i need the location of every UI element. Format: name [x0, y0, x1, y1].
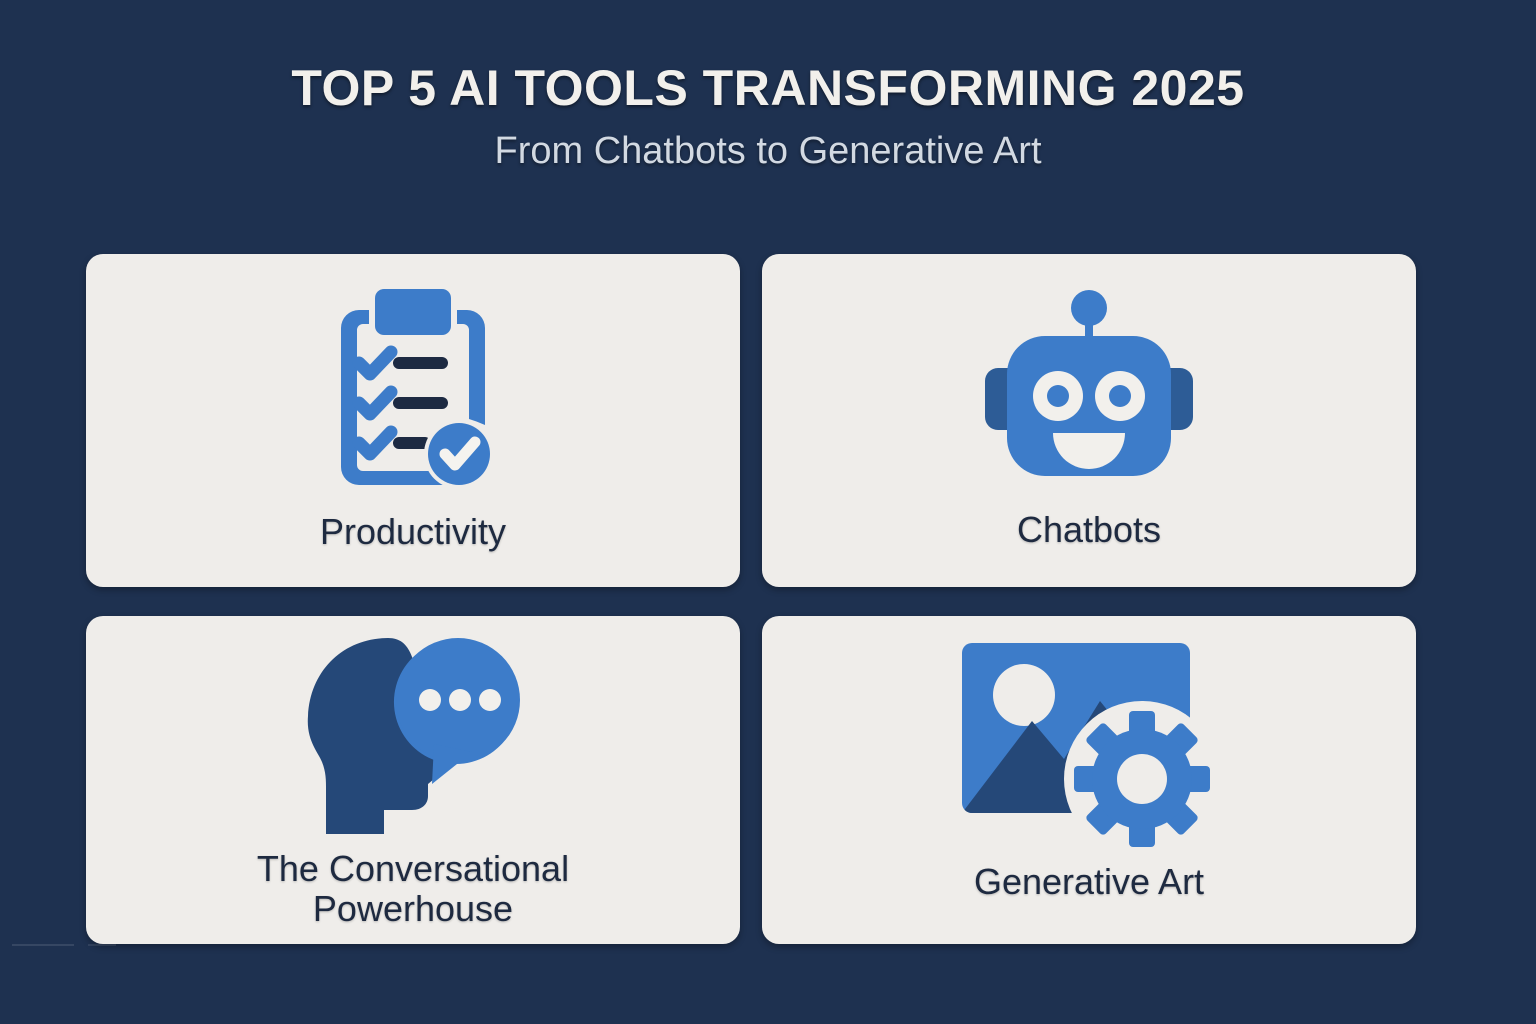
robot-head-icon — [983, 278, 1195, 498]
check-mark-2 — [359, 392, 391, 414]
card-label-generative-art: Generative Art — [960, 862, 1218, 902]
page-subtitle: From Chatbots to Generative Art — [0, 131, 1536, 173]
right-pupil — [1109, 385, 1131, 407]
header: TOP 5 AI TOOLS TRANSFORMING 2025 From Ch… — [0, 0, 1536, 172]
head-speech-bubble-icon — [296, 630, 530, 845]
page-title: TOP 5 AI TOOLS TRANSFORMING 2025 — [0, 62, 1536, 115]
card-productivity[interactable]: Productivity — [86, 254, 740, 587]
card-label-productivity: Productivity — [306, 512, 520, 552]
dot-2 — [449, 689, 471, 711]
dot-3 — [479, 689, 501, 711]
dot-1 — [419, 689, 441, 711]
edge-artifact — [12, 944, 74, 946]
list-line-1 — [393, 357, 448, 369]
sun-circle — [993, 664, 1055, 726]
card-grid: Productivity Chatbots — [86, 254, 1416, 944]
list-line-2 — [393, 397, 448, 409]
card-label-chatbots: Chatbots — [1003, 510, 1175, 550]
gear — [1074, 711, 1210, 847]
clipboard-checklist-icon — [297, 276, 529, 506]
image-gear-icon — [958, 630, 1220, 850]
card-generative-art[interactable]: Generative Art — [762, 616, 1416, 944]
edge-artifact-secondary — [88, 944, 116, 946]
gear-center-hole — [1117, 754, 1167, 804]
card-chatbots[interactable]: Chatbots — [762, 254, 1416, 587]
clipboard-outline-right — [457, 310, 485, 425]
antenna-ball — [1071, 290, 1107, 326]
clipboard-clip — [375, 289, 451, 335]
check-mark-1 — [359, 352, 391, 374]
left-pupil — [1047, 385, 1069, 407]
card-label-conversational-powerhouse: The ConversationalPowerhouse — [243, 849, 583, 930]
check-mark-3 — [359, 432, 391, 454]
card-conversational-powerhouse[interactable]: The ConversationalPowerhouse — [86, 616, 740, 944]
